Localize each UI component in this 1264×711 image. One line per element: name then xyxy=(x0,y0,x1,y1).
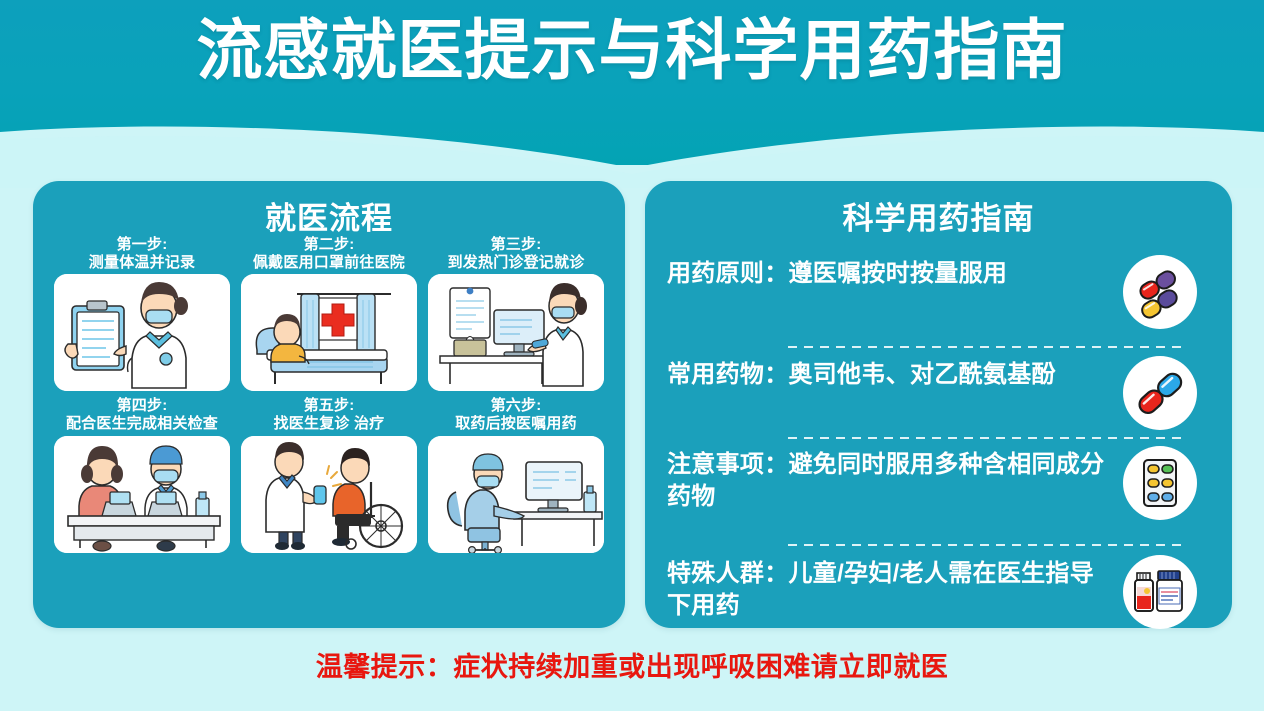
medication-guide-panel: 科学用药指南 用药原则：遵医嘱按时按量服用 xyxy=(645,181,1232,628)
two-capsules-icon xyxy=(1123,255,1197,329)
left-panel-title: 就医流程 xyxy=(33,193,625,238)
poster-root: 流感就医提示与科学用药指南 就医流程 第一步: 测量体温并记录 xyxy=(0,0,1264,711)
step-text-6: 取药后按医嘱用药 xyxy=(455,415,577,432)
step-number-4: 第四步: xyxy=(66,397,218,415)
guide-row-special-groups: 特殊人群：儿童/孕妇/老人需在医生指导下用药 xyxy=(667,555,1210,629)
step-text-5: 找医生复诊 治疗 xyxy=(274,415,385,432)
step-number-1: 第一步: xyxy=(89,236,195,254)
step-text-4: 配合医生完成相关检查 xyxy=(66,415,218,432)
medicine-bottles-icon xyxy=(1123,555,1197,629)
step-text-3: 到发热门诊登记就诊 xyxy=(448,254,585,271)
patient-consultation-desk-icon xyxy=(54,436,230,553)
step-item-5: 第五步: 找医生复诊 治疗 xyxy=(240,397,418,552)
step-item-2: 第二步: 佩戴医用口罩前往医院 xyxy=(240,236,418,391)
step-item-1: 第一步: 测量体温并记录 xyxy=(53,236,231,391)
guide-text-1: 用药原则：遵医嘱按时按量服用 xyxy=(667,255,1109,290)
guide-row-precautions: 注意事项：避免同时服用多种含相同成分药物 xyxy=(667,446,1210,520)
steps-grid: 第一步: 测量体温并记录 xyxy=(53,236,605,553)
guide-label-4: 特殊人群： xyxy=(667,560,789,587)
guide-text-4: 特殊人群：儿童/孕妇/老人需在医生指导下用药 xyxy=(667,555,1109,621)
right-panel-title: 科学用药指南 xyxy=(645,193,1232,238)
step-text-1: 测量体温并记录 xyxy=(89,254,195,271)
nurse-at-registration-desk-icon xyxy=(428,274,604,391)
step-number-3: 第三步: xyxy=(448,236,585,254)
step-caption-3: 第三步: 到发热门诊登记就诊 xyxy=(448,236,585,271)
row-separator-2 xyxy=(788,430,1188,444)
page-title: 流感就医提示与科学用药指南 xyxy=(0,17,1264,83)
step-image-4 xyxy=(54,436,230,553)
patient-in-hospital-bed-icon xyxy=(241,274,417,391)
guide-value-1: 遵医嘱按时按量服用 xyxy=(789,260,1008,287)
step-number-6: 第六步: xyxy=(455,397,577,415)
single-capsule-icon xyxy=(1123,356,1197,430)
step-caption-4: 第四步: 配合医生完成相关检查 xyxy=(66,397,218,432)
guide-text-2: 常用药物：奥司他韦、对乙酰氨基酚 xyxy=(667,356,1109,391)
step-text-2: 佩戴医用口罩前往医院 xyxy=(253,254,405,271)
step-item-3: 第三步: 到发热门诊登记就诊 xyxy=(427,236,605,391)
guide-value-2: 奥司他韦、对乙酰氨基酚 xyxy=(789,361,1056,388)
guide-label-1: 用药原则： xyxy=(667,260,789,287)
step-number-2: 第二步: xyxy=(253,236,405,254)
step-image-3 xyxy=(428,274,604,391)
medical-process-panel: 就医流程 第一步: 测量体温并记录 xyxy=(33,181,625,628)
guide-rows-list: 用药原则：遵医嘱按时按量服用 xyxy=(667,243,1210,615)
guide-text-3: 注意事项：避免同时服用多种含相同成分药物 xyxy=(667,446,1109,512)
step-caption-6: 第六步: 取药后按医嘱用药 xyxy=(455,397,577,432)
guide-row-medication-principle: 用药原则：遵医嘱按时按量服用 xyxy=(667,255,1210,329)
step-caption-5: 第五步: 找医生复诊 治疗 xyxy=(274,397,385,432)
row-separator-1 xyxy=(788,339,1188,353)
step-image-1 xyxy=(54,274,230,391)
guide-label-3: 注意事项： xyxy=(667,451,789,478)
step-caption-1: 第一步: 测量体温并记录 xyxy=(89,236,195,271)
step-item-6: 第六步: 取药后按医嘱用药 xyxy=(427,397,605,552)
doctor-with-wheelchair-patient-icon xyxy=(241,436,417,553)
guide-label-2: 常用药物： xyxy=(667,361,789,388)
guide-row-common-drugs: 常用药物：奥司他韦、对乙酰氨基酚 xyxy=(667,356,1210,430)
blister-pack-icon xyxy=(1123,446,1197,520)
warning-note: 温馨提示：症状持续加重或出现呼吸困难请立即就医 xyxy=(0,645,1264,684)
row-separator-3 xyxy=(788,537,1188,551)
doctor-with-clipboard-icon xyxy=(54,274,230,391)
step-number-5: 第五步: xyxy=(274,397,385,415)
header-wave-decoration xyxy=(0,118,1264,188)
step-item-4: 第四步: 配合医生完成相关检查 xyxy=(53,397,231,552)
step-image-6 xyxy=(428,436,604,553)
pharmacist-at-computer-icon xyxy=(428,436,604,553)
step-image-5 xyxy=(241,436,417,553)
step-image-2 xyxy=(241,274,417,391)
step-caption-2: 第二步: 佩戴医用口罩前往医院 xyxy=(253,236,405,271)
